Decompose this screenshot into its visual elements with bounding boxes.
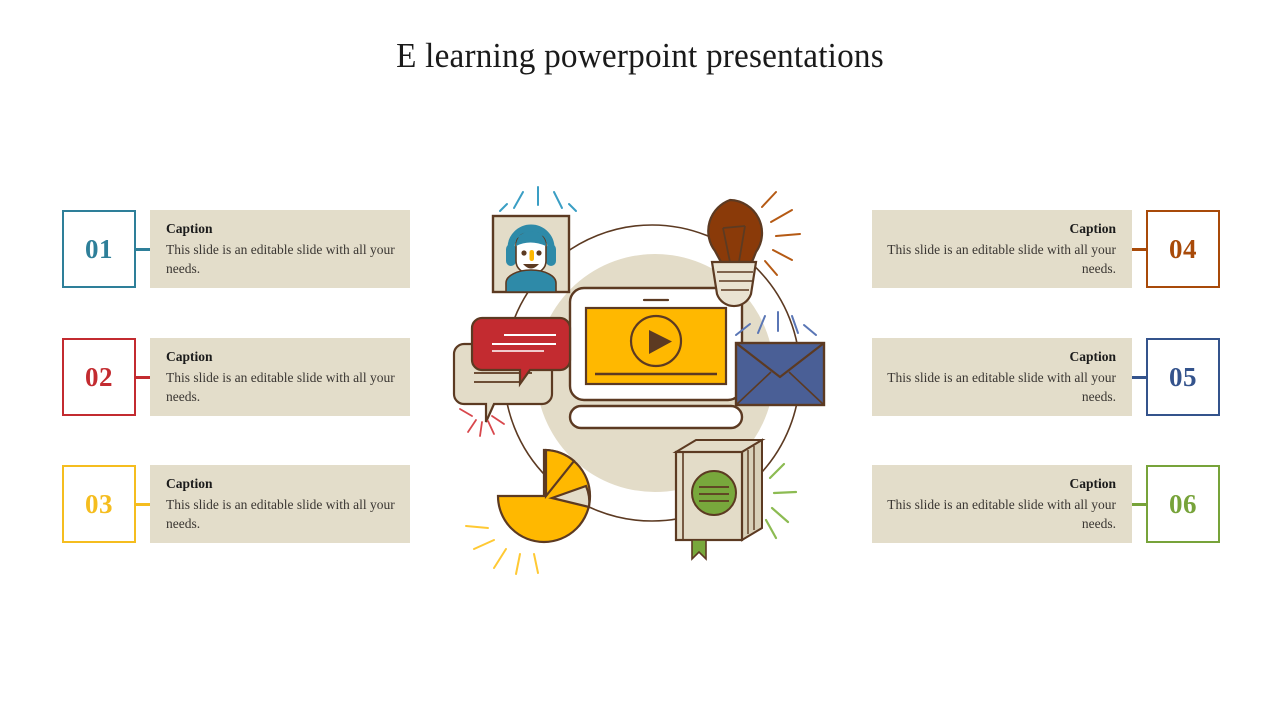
caption-panel-05: Caption This slide is an editable slide … (872, 338, 1132, 416)
number-box-01[interactable]: 01 (62, 210, 136, 288)
caption-title-02: Caption (166, 349, 396, 365)
connector-dash-line (1132, 503, 1146, 506)
caption-title-04: Caption (886, 221, 1116, 237)
number-label-05: 05 (1169, 364, 1197, 391)
caption-panel-01: Caption This slide is an editable slide … (150, 210, 410, 288)
caption-title-03: Caption (166, 476, 396, 492)
caption-body-04: This slide is an editable slide with all… (886, 241, 1116, 277)
info-card-05[interactable]: Caption This slide is an editable slide … (872, 338, 1220, 416)
connector-dash-05 (1132, 338, 1146, 416)
student-avatar-icon (493, 187, 576, 292)
info-card-01[interactable]: 01 Caption This slide is an editable sli… (62, 210, 410, 288)
caption-title-01: Caption (166, 221, 396, 237)
e-learning-illustration (440, 178, 860, 578)
caption-title-05: Caption (886, 349, 1116, 365)
pie-chart-icon (466, 450, 590, 574)
number-box-03[interactable]: 03 (62, 465, 136, 543)
caption-panel-03: Caption This slide is an editable slide … (150, 465, 410, 543)
number-label-01: 01 (85, 236, 113, 263)
connector-dash-line (1132, 376, 1146, 379)
book-icon (676, 440, 796, 559)
number-box-02[interactable]: 02 (62, 338, 136, 416)
caption-panel-06: Caption This slide is an editable slide … (872, 465, 1132, 543)
slide-canvas: E learning powerpoint presentations 01 C… (0, 0, 1280, 720)
caption-body-05: This slide is an editable slide with all… (886, 369, 1116, 405)
number-box-05[interactable]: 05 (1146, 338, 1220, 416)
connector-dash-line (1132, 248, 1146, 251)
caption-body-02: This slide is an editable slide with all… (166, 369, 396, 405)
connector-dash-line (136, 503, 150, 506)
connector-dash-02 (136, 338, 150, 416)
number-label-04: 04 (1169, 236, 1197, 263)
page-title: E learning powerpoint presentations (32, 36, 1248, 76)
lightbulb-icon (708, 192, 800, 306)
number-label-06: 06 (1169, 491, 1197, 518)
caption-panel-04: Caption This slide is an editable slide … (872, 210, 1132, 288)
number-box-04[interactable]: 04 (1146, 210, 1220, 288)
connector-dash-line (136, 248, 150, 251)
caption-body-03: This slide is an editable slide with all… (166, 496, 396, 532)
number-box-06[interactable]: 06 (1146, 465, 1220, 543)
connector-dash-line (136, 376, 150, 379)
caption-title-06: Caption (886, 476, 1116, 492)
caption-body-01: This slide is an editable slide with all… (166, 241, 396, 277)
info-card-04[interactable]: Caption This slide is an editable slide … (872, 210, 1220, 288)
caption-panel-02: Caption This slide is an editable slide … (150, 338, 410, 416)
connector-dash-03 (136, 465, 150, 543)
connector-dash-04 (1132, 210, 1146, 288)
connector-dash-06 (1132, 465, 1146, 543)
info-card-06[interactable]: Caption This slide is an editable slide … (872, 465, 1220, 543)
info-card-03[interactable]: 03 Caption This slide is an editable sli… (62, 465, 410, 543)
number-label-03: 03 (85, 491, 113, 518)
laptop-video-player-icon (570, 288, 742, 428)
number-label-02: 02 (85, 364, 113, 391)
connector-dash-01 (136, 210, 150, 288)
info-card-02[interactable]: 02 Caption This slide is an editable sli… (62, 338, 410, 416)
caption-body-06: This slide is an editable slide with all… (886, 496, 1116, 532)
